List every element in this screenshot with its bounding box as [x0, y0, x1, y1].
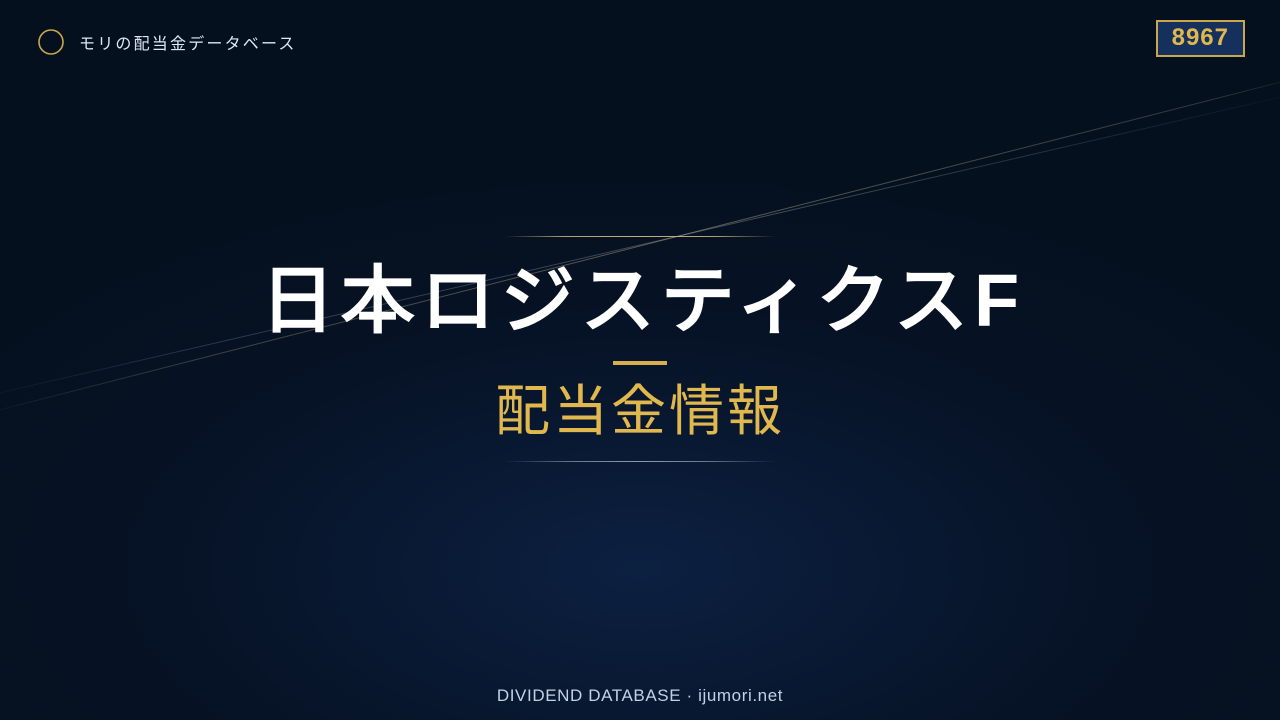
hero-rule-bottom	[504, 461, 776, 462]
header-brand[interactable]: モリの配当金データベース	[36, 27, 297, 57]
footer-credit: DIVIDEND DATABASE · ijumori.net	[0, 686, 1280, 706]
page-subtitle: 配当金情報	[495, 381, 785, 443]
brand-title: モリの配当金データベース	[79, 30, 297, 54]
page-title: 日本ロジスティクスF	[255, 261, 1026, 341]
yen-circle-icon	[36, 27, 66, 57]
title-slide: モリの配当金データベース 8967 日本ロジスティクスF 配当金情報 DIVID…	[0, 0, 1280, 720]
hero-block: 日本ロジスティクスF 配当金情報	[0, 236, 1280, 462]
hero-rule-top	[504, 236, 776, 237]
gold-dash-divider-icon	[613, 361, 667, 365]
ticker-code-badge[interactable]: 8967	[1156, 20, 1245, 57]
